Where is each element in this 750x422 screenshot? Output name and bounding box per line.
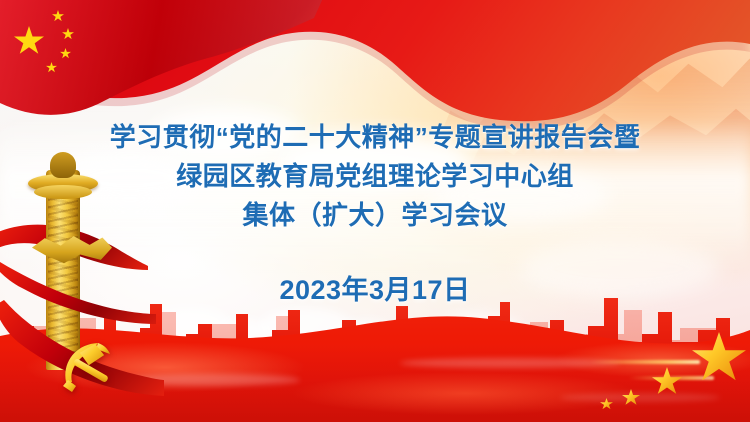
party-hammer-sickle-emblem-icon [58, 336, 130, 398]
title-line-2: 绿园区教育局党组理论学习中心组 [0, 157, 750, 196]
star-streak [590, 360, 700, 364]
event-date: 2023年3月17日 [0, 268, 750, 307]
banner-poster: 学习贯彻“党的二十大精神”专题宣讲报告会暨 绿园区教育局党组理论学习中心组 集体… [0, 0, 750, 422]
title-block: 学习贯彻“党的二十大精神”专题宣讲报告会暨 绿园区教育局党组理论学习中心组 集体… [0, 118, 750, 235]
title-line-3: 集体（扩大）学习会议 [0, 196, 750, 235]
title-line-1: 学习贯彻“党的二十大精神”专题宣讲报告会暨 [0, 118, 750, 157]
fabric-fold [400, 358, 620, 368]
fabric-fold [560, 393, 720, 402]
